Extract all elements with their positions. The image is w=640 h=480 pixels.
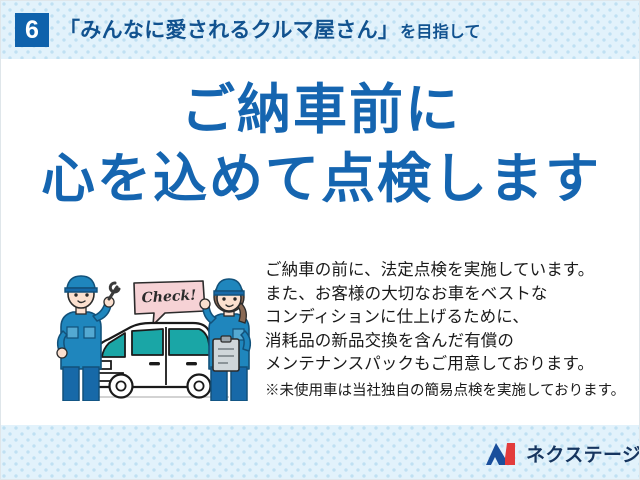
header-tagline-quote: 「みんなに愛されるクルマ屋さん」: [59, 14, 399, 44]
body-copy: ご納車の前に、法定点検を実施しています。 また、お客様の大切なお車をベストな コ…: [265, 259, 625, 404]
headline-line-2: 心を込めて点検します: [1, 148, 640, 211]
step-number-badge: 6: [15, 13, 49, 47]
page-headline: ご納車前に 心を込めて点検します: [1, 79, 640, 210]
body-line: メンテナンスパックもご用意しております。: [265, 353, 625, 377]
body-line: 消耗品の新品交換を含んだ有償の: [265, 330, 625, 354]
check-speech-bubble-icon: [134, 281, 205, 325]
header-tagline-suffix: を目指して: [400, 18, 481, 42]
headline-line-1: ご納車前に: [1, 79, 640, 142]
advertisement-page: 6 「みんなに愛されるクルマ屋さん」 を目指して ご納車前に 心を込めて点検しま…: [0, 0, 640, 480]
brand-name-label: ネクステージ: [526, 440, 640, 467]
mechanics-illustration: Check!: [53, 269, 258, 401]
body-line: ご納車の前に、法定点検を実施しています。: [265, 259, 625, 283]
van-icon: [83, 323, 229, 398]
header-tagline: 「みんなに愛されるクルマ屋さん」 を目指して: [59, 14, 481, 46]
illustration-svg: [53, 269, 258, 401]
brand-logo: ネクステージ: [485, 440, 640, 467]
n-mark-icon: [485, 442, 519, 466]
body-footnote: ※未使用車は当社独自の簡易点検を実施しております。: [265, 380, 625, 404]
body-line: また、お客様の大切なお車をベストな: [265, 283, 625, 307]
body-line: コンディションに仕上げるために、: [265, 306, 625, 330]
